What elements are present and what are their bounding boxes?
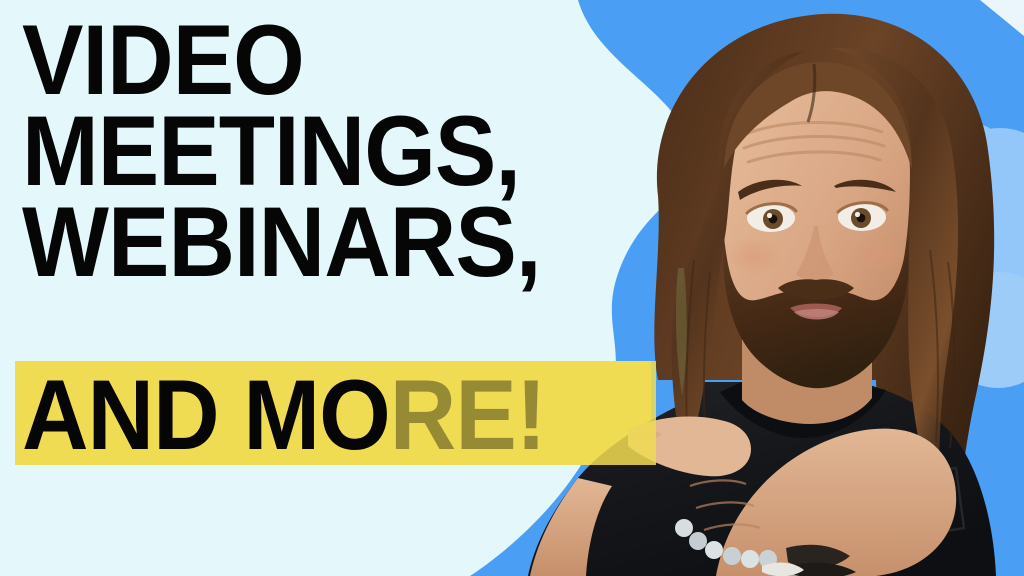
- cheek-left: [726, 236, 782, 276]
- subject-photo: [390, 0, 1024, 576]
- highlight-bar-over-subject: [390, 361, 656, 465]
- thumbnail-canvas: VIDEO MEETINGS, WEBINARS, AND MORE!: [0, 0, 1024, 576]
- cheek-right: [850, 234, 906, 274]
